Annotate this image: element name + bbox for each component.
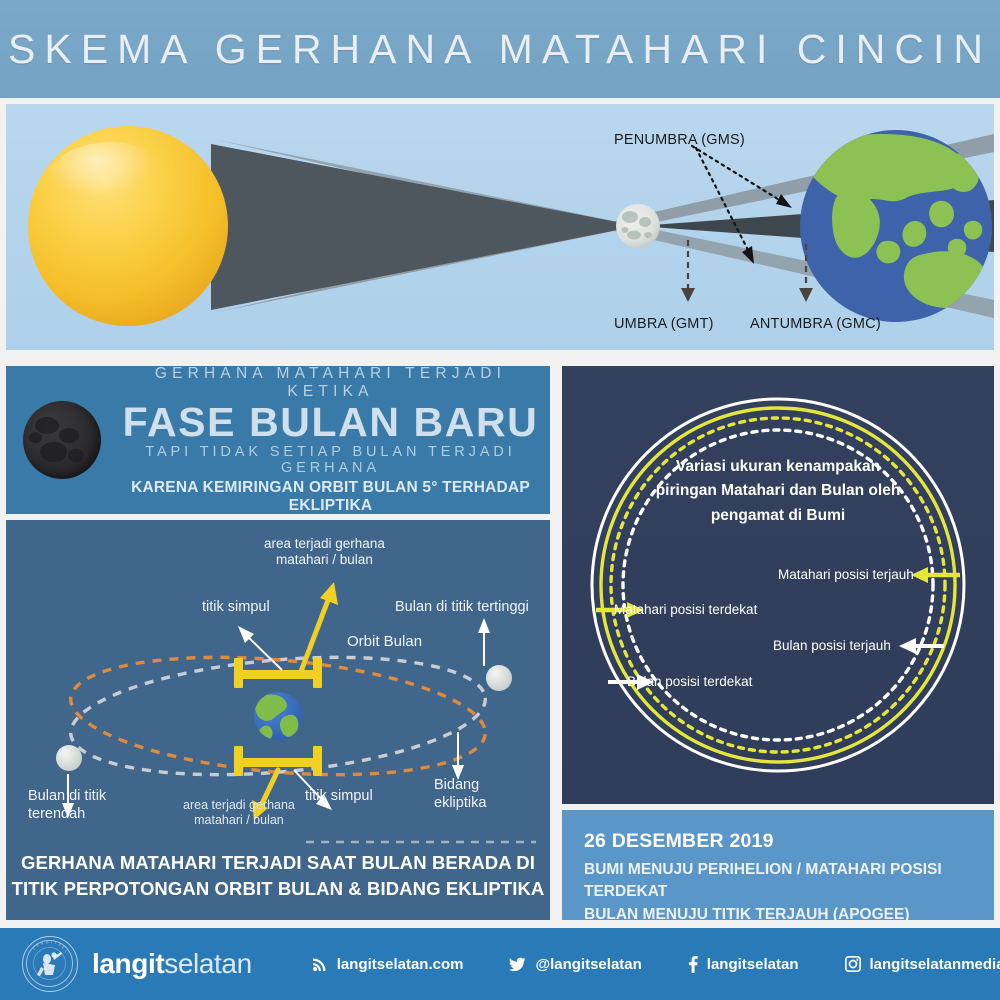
social-facebook-label: langitselatan bbox=[707, 956, 799, 973]
new-moon-text-block: GERHANA MATAHARI TERJADI KETIKA FASE BUL… bbox=[117, 365, 550, 516]
langitselatan-seal-logo: L A N G I T S E L bbox=[22, 936, 78, 992]
node-arrow-top bbox=[238, 626, 282, 670]
fase-line-2: FASE BULAN BARU bbox=[117, 402, 544, 444]
label-matahari-terdekat: Matahari posisi terdekat bbox=[614, 602, 757, 617]
variation-title: Variasi ukuran kenampakan piringan Matah… bbox=[562, 455, 994, 528]
brand-bold: langit bbox=[92, 948, 164, 979]
svg-text:I: I bbox=[51, 940, 52, 944]
event-detail-line-1: BUMI MENUJU PERIHELION / MATAHARI POSISI… bbox=[584, 859, 994, 904]
svg-text:N: N bbox=[40, 941, 44, 946]
social-twitter[interactable]: @langitselatan bbox=[509, 956, 641, 973]
label-moon-lowest: Bulan di titik terendah bbox=[28, 788, 106, 823]
label-eclipse-area-bottom: area terjadi gerhana matahari / bulan bbox=[183, 798, 295, 829]
rss-icon bbox=[312, 956, 328, 972]
seal-svg: L A N G I T S E L bbox=[23, 937, 76, 990]
brand-light: selatan bbox=[164, 948, 252, 979]
event-detail-line-2: BULAN MENUJU TITIK TERJAUH (APOGEE) bbox=[584, 904, 994, 926]
label-ecliptic-plane: Bidang ekliptika bbox=[434, 777, 486, 812]
label-bulan-terjauh: Bulan posisi terjauh bbox=[773, 638, 891, 653]
social-website[interactable]: langitselatan.com bbox=[312, 956, 464, 973]
orbit-node-diagram: area terjadi gerhana matahari / bulan ti… bbox=[6, 520, 550, 920]
facebook-icon bbox=[688, 956, 698, 973]
moon-lowest-icon bbox=[56, 745, 82, 771]
label-moon-orbit: Orbit Bulan bbox=[347, 633, 422, 651]
ecliptic-plane-arrow bbox=[452, 732, 464, 780]
orbit-caption: GERHANA MATAHARI TERJADI SAAT BULAN BERA… bbox=[6, 850, 550, 901]
svg-text:L: L bbox=[32, 946, 36, 950]
moon-highest-arrow bbox=[478, 618, 490, 666]
new-moon-phase-panel: GERHANA MATAHARI TERJADI KETIKA FASE BUL… bbox=[6, 366, 550, 514]
fase-line-3: TAPI TIDAK SETIAP BULAN TERJADI GERHANA bbox=[117, 444, 544, 476]
label-umbra: UMBRA (GMT) bbox=[614, 316, 714, 332]
label-bulan-terdekat: Bulan posisi terdekat bbox=[627, 674, 752, 689]
infographic-page: SKEMA GERHANA MATAHARI CINCIN bbox=[0, 0, 1000, 1000]
umbra-cone bbox=[211, 144, 638, 310]
label-eclipse-area-top: area terjadi gerhana matahari / bulan bbox=[264, 536, 385, 569]
apparent-size-variation-panel: Variasi ukuran kenampakan piringan Matah… bbox=[562, 366, 994, 804]
social-links: langitselatan.com @langitselatan langits… bbox=[312, 956, 1000, 973]
fase-line-1: GERHANA MATAHARI TERJADI KETIKA bbox=[117, 365, 544, 401]
moon-icon bbox=[616, 204, 660, 248]
footer-bar: L A N G I T S E L langitselatan bbox=[0, 928, 1000, 1000]
label-moon-highest: Bulan di titik tertinggi bbox=[395, 599, 529, 617]
concentric-rings-svg bbox=[562, 366, 994, 804]
event-date: 26 DESEMBER 2019 bbox=[584, 830, 994, 853]
social-twitter-label: @langitselatan bbox=[535, 956, 641, 973]
social-facebook[interactable]: langitselatan bbox=[688, 956, 799, 973]
instagram-icon bbox=[845, 956, 861, 972]
eclipse-geometry-svg bbox=[6, 104, 994, 350]
svg-text:A: A bbox=[36, 943, 41, 948]
twitter-icon bbox=[509, 957, 526, 972]
new-moon-icon bbox=[23, 401, 101, 479]
label-penumbra: PENUMBRA (GMS) bbox=[614, 132, 745, 148]
brand-wordmark: langitselatan bbox=[92, 948, 252, 980]
earth-icon bbox=[800, 130, 992, 322]
social-instagram[interactable]: langitselatanmedia bbox=[845, 956, 1000, 973]
event-date-panel: 26 DESEMBER 2019 BUMI MENUJU PERIHELION … bbox=[562, 810, 994, 920]
social-instagram-label: langitselatanmedia bbox=[870, 956, 1000, 973]
moon-highest-icon bbox=[486, 665, 512, 691]
fase-line-4: KARENA KEMIRINGAN ORBIT BULAN 5° TERHADA… bbox=[117, 479, 544, 515]
social-website-label: langitselatan.com bbox=[337, 956, 464, 973]
eclipse-geometry-diagram: PENUMBRA (GMS) UMBRA (GMT) ANTUMBRA (GMC… bbox=[6, 104, 994, 350]
label-matahari-terjauh: Matahari posisi terjauh bbox=[778, 567, 914, 582]
label-node-top: titik simpul bbox=[202, 599, 270, 617]
sun-icon bbox=[28, 126, 228, 326]
header-banner: SKEMA GERHANA MATAHARI CINCIN bbox=[0, 0, 1000, 98]
svg-text:L: L bbox=[64, 949, 68, 953]
label-antumbra: ANTUMBRA (GMC) bbox=[750, 316, 881, 332]
label-node-bottom: titik simpul bbox=[305, 788, 373, 806]
umbra-arrow bbox=[681, 240, 695, 302]
page-title: SKEMA GERHANA MATAHARI CINCIN bbox=[8, 26, 992, 73]
earth-icon-small bbox=[254, 692, 302, 741]
